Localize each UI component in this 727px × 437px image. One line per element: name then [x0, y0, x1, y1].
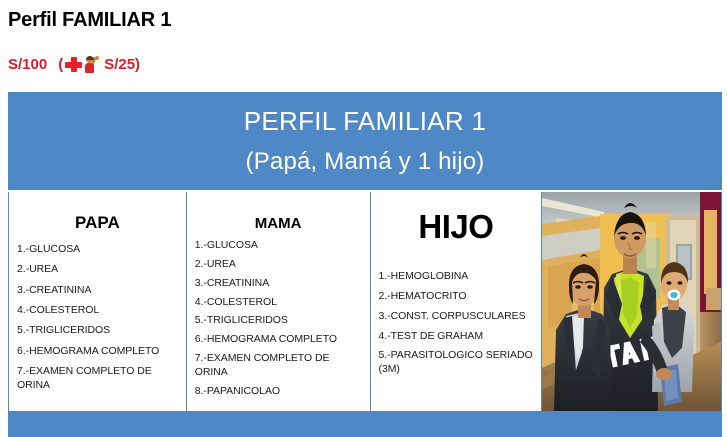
price-amount: S/100 [8, 56, 47, 73]
list-item: 7.-EXAMEN COMPLETO DE ORINA [17, 365, 178, 393]
column-mama: MAMA 1.-GLUCOSA 2.-UREA 3.-CREATININA 4.… [187, 192, 371, 411]
list-item: 3.-CONST. CORPUSCULARES [379, 310, 534, 324]
price-line: S/100 ( S/25) [8, 56, 140, 73]
list-item: 5.-TRIGLICERIDOS [195, 314, 362, 328]
list-item: 4.-TEST DE GRAHAM [379, 330, 534, 344]
column-hijo: HIJO 1.-HEMOGLOBINA 2.-HEMATOCRITO 3.-CO… [371, 192, 543, 411]
profile-table: PAPA 1.-GLUCOSA 2.-UREA 3.-CREATININA 4.… [8, 192, 722, 411]
column-heading-mama: MAMA [195, 215, 362, 232]
promo-price: S/25) [104, 56, 140, 73]
red-cross-icon [65, 57, 82, 72]
list-item: 2.-UREA [17, 263, 178, 277]
list-item: 2.-UREA [195, 258, 362, 272]
page-root: Perfil FAMILIAR 1 S/100 ( S/25) PERFIL F… [0, 0, 727, 437]
list-item: 6.-HEMOGRAMA COMPLETO [17, 345, 178, 359]
person-raising-hand-icon [84, 56, 100, 73]
list-item: 3.-CREATININA [17, 284, 178, 298]
family-photo [542, 192, 721, 411]
list-item: 6.-HEMOGRAMA COMPLETO [195, 333, 362, 347]
column-papa: PAPA 1.-GLUCOSA 2.-UREA 3.-CREATININA 4.… [9, 192, 187, 411]
banner-title: PERFIL FAMILIAR 1 [244, 105, 487, 138]
list-item: 4.-COLESTEROL [195, 296, 362, 310]
list-item: 4.-COLESTEROL [17, 304, 178, 318]
exam-list-papa: 1.-GLUCOSA 2.-UREA 3.-CREATININA 4.-COLE… [17, 243, 178, 393]
exam-list-hijo: 1.-HEMOGLOBINA 2.-HEMATOCRITO 3.-CONST. … [379, 270, 534, 377]
list-item: 3.-CREATININA [195, 277, 362, 291]
list-item: 5.-PARASITOLOGICO SERIADO (3M) [379, 349, 534, 377]
page-title: Perfil FAMILIAR 1 [8, 9, 171, 32]
list-item: 7.-EXAMEN COMPLETO DE ORINA [195, 352, 362, 380]
price-open-paren: ( [58, 56, 63, 73]
column-photo [542, 192, 721, 411]
list-item: 1.-GLUCOSA [195, 239, 362, 253]
list-item: 1.-HEMOGLOBINA [379, 270, 534, 284]
banner-subtitle: (Papá, Mamá y 1 hijo) [246, 146, 485, 177]
exam-list-mama: 1.-GLUCOSA 2.-UREA 3.-CREATININA 4.-COLE… [195, 239, 362, 399]
banner: PERFIL FAMILIAR 1 (Papá, Mamá y 1 hijo) [8, 92, 722, 190]
footer-bar [8, 411, 722, 437]
column-heading-papa: PAPA [17, 213, 178, 233]
list-item: 8.-PAPANICOLAO [195, 385, 362, 399]
list-item: 1.-GLUCOSA [17, 243, 178, 257]
column-heading-hijo: HIJO [379, 208, 534, 246]
list-item: 2.-HEMATOCRITO [379, 290, 534, 304]
list-item: 5.-TRIGLICERIDOS [17, 324, 178, 338]
